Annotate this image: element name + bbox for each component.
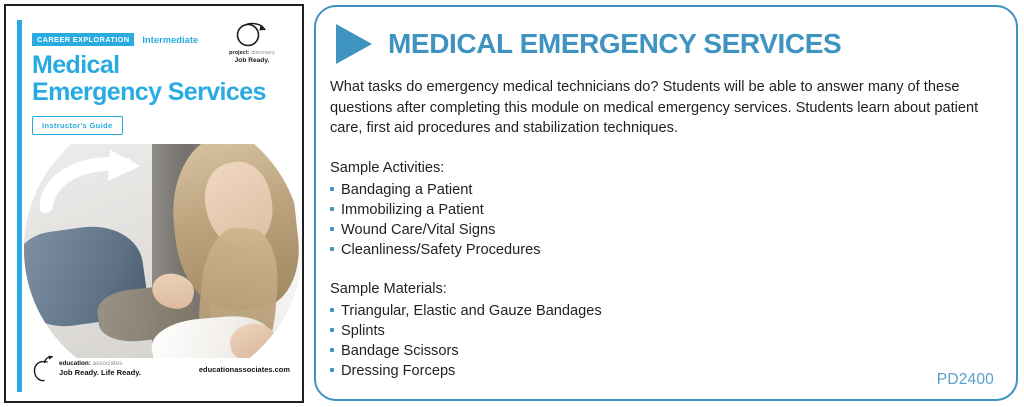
bullet-icon bbox=[330, 187, 334, 191]
apple-outline-icon bbox=[32, 355, 54, 383]
cover-title-line-1: Medical bbox=[32, 51, 120, 79]
list-item-label: Bandaging a Patient bbox=[341, 182, 472, 198]
list-item: Bandage Scissors bbox=[330, 341, 994, 361]
book-cover-card: project: discovery Job Ready. CAREER EXP… bbox=[4, 4, 304, 403]
bullet-icon bbox=[330, 328, 334, 332]
ea-word-associates: associates bbox=[91, 360, 123, 367]
ea-logo-group: education: associates Job Ready. Life Re… bbox=[32, 355, 141, 383]
instructors-guide-badge: Instructor's Guide bbox=[32, 116, 123, 135]
page-title: MEDICAL EMERGENCY SERVICES bbox=[388, 30, 841, 58]
career-exploration-badge: CAREER EXPLORATION bbox=[32, 33, 134, 46]
list-item: Dressing Forceps bbox=[330, 361, 994, 381]
list-item: Triangular, Elastic and Gauze Bandages bbox=[330, 301, 994, 321]
sample-materials-list: Triangular, Elastic and Gauze Bandages S… bbox=[330, 301, 994, 382]
product-code: PD2400 bbox=[937, 371, 994, 389]
list-item: Immobilizing a Patient bbox=[330, 200, 994, 220]
cover-title-line-2: Emergency Services bbox=[32, 79, 294, 106]
cover-title: Medical Emergency Services bbox=[32, 52, 294, 106]
ea-tagline: Job Ready. Life Ready. bbox=[59, 368, 141, 377]
list-item: Splints bbox=[330, 321, 994, 341]
bullet-icon bbox=[330, 227, 334, 231]
list-item-label: Dressing Forceps bbox=[341, 363, 455, 379]
list-item-label: Bandage Scissors bbox=[341, 343, 459, 359]
list-item-label: Immobilizing a Patient bbox=[341, 202, 484, 218]
cover-photo bbox=[24, 144, 304, 358]
sample-materials-section: Sample Materials: Triangular, Elastic an… bbox=[330, 279, 994, 381]
list-item: Wound Care/Vital Signs bbox=[330, 220, 994, 240]
play-triangle-icon bbox=[332, 21, 374, 67]
bullet-icon bbox=[330, 207, 334, 211]
list-item-label: Splints bbox=[341, 323, 385, 339]
info-header: MEDICAL EMERGENCY SERVICES bbox=[316, 7, 1016, 67]
catalog-entry-page: project: discovery Job Ready. CAREER EXP… bbox=[0, 0, 1024, 407]
list-item: Cleanliness/Safety Procedures bbox=[330, 240, 994, 260]
level-label: Intermediate bbox=[142, 35, 198, 45]
ea-word-education: education: bbox=[59, 360, 91, 367]
cover-accent-bar bbox=[17, 20, 22, 392]
sample-activities-heading: Sample Activities: bbox=[330, 158, 994, 179]
list-item: Bandaging a Patient bbox=[330, 180, 994, 200]
education-associates-footer: education: associates Job Ready. Life Re… bbox=[32, 355, 290, 383]
sample-activities-section: Sample Activities: Bandaging a Patient I… bbox=[330, 158, 994, 260]
list-item-label: Triangular, Elastic and Gauze Bandages bbox=[341, 303, 602, 319]
bullet-icon bbox=[330, 368, 334, 372]
ea-wordmark: education: associates Job Ready. Life Re… bbox=[59, 360, 141, 377]
curved-arrow-icon bbox=[40, 150, 160, 222]
bullet-icon bbox=[330, 308, 334, 312]
list-item-label: Cleanliness/Safety Procedures bbox=[341, 242, 541, 258]
bullet-icon bbox=[330, 247, 334, 251]
module-info-panel: MEDICAL EMERGENCY SERVICES What tasks do… bbox=[314, 5, 1018, 401]
sample-materials-heading: Sample Materials: bbox=[330, 279, 994, 300]
ea-website: educationassociates.com bbox=[199, 365, 290, 374]
module-description: What tasks do emergency medical technici… bbox=[330, 77, 994, 139]
cover-eyebrow-row: CAREER EXPLORATION Intermediate bbox=[32, 33, 294, 46]
ea-brand-line: education: associates bbox=[59, 360, 141, 368]
bullet-icon bbox=[330, 348, 334, 352]
list-item-label: Wound Care/Vital Signs bbox=[341, 222, 495, 238]
sample-activities-list: Bandaging a Patient Immobilizing a Patie… bbox=[330, 180, 994, 261]
info-body: What tasks do emergency medical technici… bbox=[316, 67, 1016, 382]
